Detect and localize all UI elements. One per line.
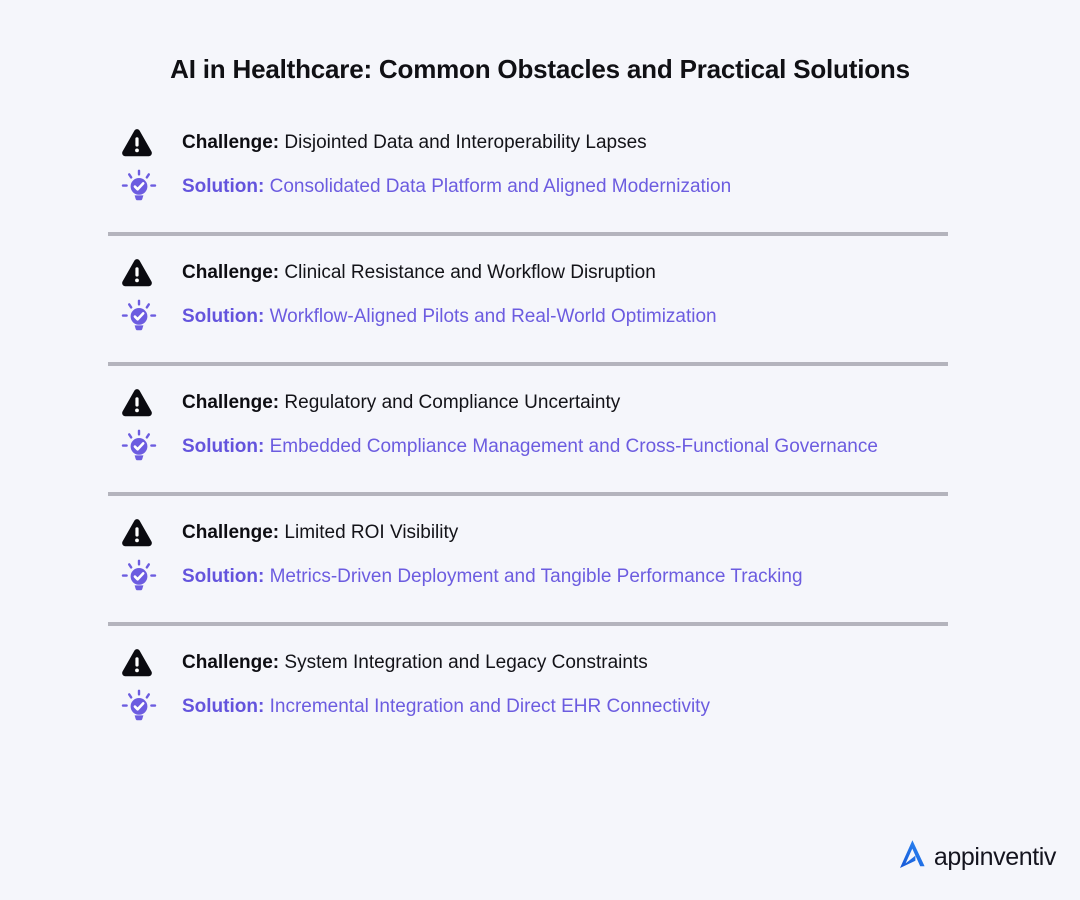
solution-value: Consolidated Data Platform and Aligned M… [270,176,732,197]
challenge-icon-cell [108,258,182,293]
challenge-value: Regulatory and Compliance Uncertainty [284,392,620,413]
challenge-solution-block-3: Challenge: Regulatory and Compliance Unc… [108,366,948,496]
solution-icon-cell [108,299,182,340]
challenge-label: Challenge: [182,652,284,673]
challenge-text: Challenge: Regulatory and Compliance Unc… [182,389,948,417]
solution-text: Solution: Incremental Integration and Di… [182,690,948,724]
challenge-row: Challenge: Clinical Resistance and Workf… [108,258,948,293]
solution-text: Solution: Metrics-Driven Deployment and … [182,560,948,594]
challenge-text: Challenge: Disjointed Data and Interoper… [182,129,948,157]
solution-text-cell: Solution: Consolidated Data Platform and… [182,169,948,204]
solution-label: Solution: [182,306,270,327]
lightbulb-check-icon [121,689,157,730]
solution-text-cell: Solution: Incremental Integration and Di… [182,689,948,724]
solution-row: Solution: Embedded Compliance Management… [108,429,948,470]
solution-label: Solution: [182,436,270,457]
solution-value: Metrics-Driven Deployment and Tangible P… [270,566,803,587]
solution-text: Solution: Embedded Compliance Management… [182,430,948,464]
solution-icon-cell [108,169,182,210]
solution-text-cell: Solution: Metrics-Driven Deployment and … [182,559,948,594]
challenge-text-cell: Challenge: Limited ROI Visibility [182,518,948,547]
challenge-solution-block-4: Challenge: Limited ROI Visibility [108,496,948,626]
solution-value: Incremental Integration and Direct EHR C… [270,696,710,717]
infographic-page: AI in Healthcare: Common Obstacles and P… [0,0,1080,900]
solution-label: Solution: [182,566,270,587]
solution-text: Solution: Workflow-Aligned Pilots and Re… [182,300,948,334]
lightbulb-check-icon [121,429,157,470]
challenge-row: Challenge: System Integration and Legacy… [108,648,948,683]
warning-triangle-icon [121,648,153,683]
challenge-text: Challenge: Clinical Resistance and Workf… [182,259,948,287]
challenge-text-cell: Challenge: System Integration and Legacy… [182,648,948,677]
solution-row: Solution: Incremental Integration and Di… [108,689,948,730]
solution-row: Solution: Workflow-Aligned Pilots and Re… [108,299,948,340]
challenge-solution-block-5: Challenge: System Integration and Legacy… [108,626,948,752]
solution-text: Solution: Consolidated Data Platform and… [182,170,948,204]
brand-wordmark: appinventiv [934,843,1056,871]
challenge-value: Clinical Resistance and Workflow Disrupt… [284,262,655,283]
lightbulb-check-icon [121,559,157,600]
challenge-row: Challenge: Limited ROI Visibility [108,518,948,553]
page-title: AI in Healthcare: Common Obstacles and P… [0,52,1080,86]
challenge-text-cell: Challenge: Disjointed Data and Interoper… [182,128,948,157]
warning-triangle-icon [121,128,153,163]
challenge-icon-cell [108,128,182,163]
appinventiv-a-mark-icon [895,837,929,876]
challenge-text-cell: Challenge: Regulatory and Compliance Unc… [182,388,948,417]
challenge-text-cell: Challenge: Clinical Resistance and Workf… [182,258,948,287]
solution-icon-cell [108,559,182,600]
challenge-icon-cell [108,518,182,553]
challenge-value: System Integration and Legacy Constraint… [284,652,647,673]
challenge-text: Challenge: System Integration and Legacy… [182,649,948,677]
challenge-solution-list: Challenge: Disjointed Data and Interoper… [108,128,948,752]
solution-value: Embedded Compliance Management and Cross… [270,436,878,457]
solution-row: Solution: Consolidated Data Platform and… [108,169,948,210]
challenge-solution-block-1: Challenge: Disjointed Data and Interoper… [108,128,948,236]
solution-label: Solution: [182,176,270,197]
brand-logo: appinventiv [895,837,1056,876]
challenge-label: Challenge: [182,522,284,543]
solution-value: Workflow-Aligned Pilots and Real-World O… [270,306,717,327]
warning-triangle-icon [121,258,153,293]
solution-row: Solution: Metrics-Driven Deployment and … [108,559,948,600]
challenge-label: Challenge: [182,132,284,153]
solution-icon-cell [108,689,182,730]
challenge-label: Challenge: [182,262,284,283]
warning-triangle-icon [121,518,153,553]
challenge-value: Disjointed Data and Interoperability Lap… [284,132,646,153]
challenge-text: Challenge: Limited ROI Visibility [182,519,948,547]
warning-triangle-icon [121,388,153,423]
solution-text-cell: Solution: Embedded Compliance Management… [182,429,948,464]
lightbulb-check-icon [121,169,157,210]
solution-icon-cell [108,429,182,470]
challenge-icon-cell [108,388,182,423]
challenge-row: Challenge: Disjointed Data and Interoper… [108,128,948,163]
challenge-value: Limited ROI Visibility [284,522,458,543]
solution-label: Solution: [182,696,270,717]
lightbulb-check-icon [121,299,157,340]
challenge-solution-block-2: Challenge: Clinical Resistance and Workf… [108,236,948,366]
challenge-icon-cell [108,648,182,683]
challenge-label: Challenge: [182,392,284,413]
solution-text-cell: Solution: Workflow-Aligned Pilots and Re… [182,299,948,334]
challenge-row: Challenge: Regulatory and Compliance Unc… [108,388,948,423]
